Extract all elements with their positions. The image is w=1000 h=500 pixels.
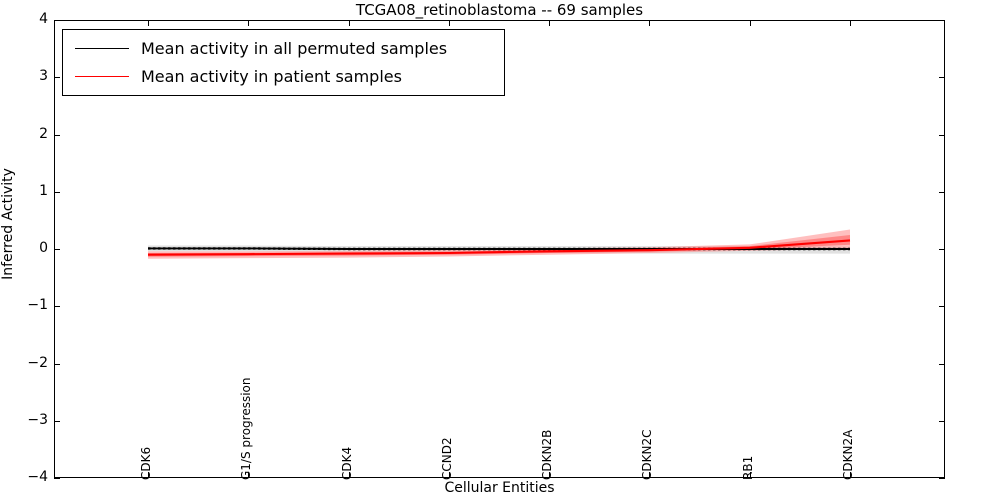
x-tick-label: CCND2 [440, 437, 454, 480]
legend-entry-permuted: Mean activity in all permuted samples [63, 35, 504, 63]
y-tick-mark-right [939, 135, 945, 136]
y-tick-mark-right [939, 421, 945, 422]
x-tick-label: CDKN2C [640, 430, 654, 480]
y-tick-mark [54, 364, 60, 365]
y-axis-label: Inferred Activity [0, 124, 16, 324]
legend-label-patient: Mean activity in patient samples [141, 65, 402, 89]
legend-entry-patient: Mean activity in patient samples [63, 63, 504, 91]
y-tick-mark [54, 249, 60, 250]
y-tick-label: 2 [4, 126, 48, 142]
y-tick-mark-right [939, 192, 945, 193]
x-tick-label: G1/S progression [239, 378, 253, 481]
chart-title: TCGA08_retinoblastoma -- 69 samples [54, 1, 945, 19]
x-tick-label: RB1 [741, 456, 755, 480]
x-tick-mark-top [549, 20, 550, 26]
y-tick-label: −2 [4, 355, 48, 371]
y-tick-mark [54, 20, 60, 21]
y-tick-label: 1 [4, 183, 48, 199]
y-tick-mark-right [939, 20, 945, 21]
x-tick-label: CDK6 [139, 447, 153, 480]
y-tick-label: −1 [4, 297, 48, 313]
legend-line-icon-black [75, 48, 129, 49]
x-tick-label: CDKN2B [540, 430, 554, 480]
y-tick-mark-right [939, 306, 945, 307]
y-tick-label: 3 [4, 68, 48, 84]
x-tick-mark-top [248, 20, 249, 26]
y-tick-mark [54, 135, 60, 136]
y-tick-label: 4 [4, 11, 48, 27]
x-tick-mark-top [349, 20, 350, 26]
y-tick-mark [54, 306, 60, 307]
x-tick-mark-top [449, 20, 450, 26]
y-tick-mark [54, 478, 60, 479]
legend-label-permuted: Mean activity in all permuted samples [141, 37, 447, 61]
matplotlib-figure: TCGA08_retinoblastoma -- 69 samples Infe… [0, 0, 1000, 500]
y-tick-mark [54, 77, 60, 78]
y-tick-label: −3 [4, 412, 48, 428]
y-tick-mark-right [939, 77, 945, 78]
x-tick-mark-top [148, 20, 149, 26]
x-tick-mark-top [750, 20, 751, 26]
x-tick-label: CDKN2A [841, 430, 855, 480]
x-tick-mark-top [850, 20, 851, 26]
y-tick-mark-right [939, 249, 945, 250]
chart-legend: Mean activity in all permuted samples Me… [62, 29, 505, 96]
y-tick-label: 0 [4, 240, 48, 256]
x-tick-mark-top [649, 20, 650, 26]
x-tick-label: CDK4 [340, 447, 354, 480]
y-tick-mark-right [939, 364, 945, 365]
y-tick-mark [54, 421, 60, 422]
y-tick-mark-right [939, 478, 945, 479]
legend-line-icon-red [75, 76, 129, 77]
y-tick-mark [54, 192, 60, 193]
y-tick-label: −4 [4, 469, 48, 485]
x-axis-label: Cellular Entities [54, 480, 945, 496]
